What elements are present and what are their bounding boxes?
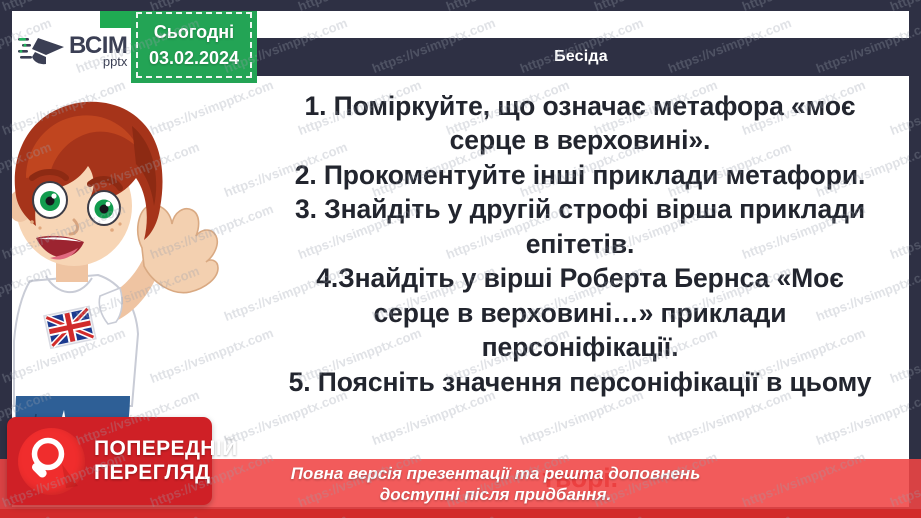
- banner-line-2: доступні після придбання.: [380, 485, 611, 504]
- preview-badge[interactable]: ПОПЕРЕДНІЙ ПЕРЕГЛЯД: [7, 417, 212, 505]
- body-line: епітетів.: [244, 227, 909, 261]
- presentation-slide: творі.: [0, 0, 921, 518]
- today-date-badge: Сьогодні 03.02.2024: [131, 11, 257, 83]
- preview-label-2: ПЕРЕГЛЯД: [94, 461, 211, 484]
- today-date: 03.02.2024: [149, 45, 239, 71]
- body-line: персоніфікації.: [244, 330, 909, 364]
- slide-title-bar: Бесіда: [253, 38, 909, 76]
- slide-body-text: 1. Поміркуйте, що означає метафора «моє …: [244, 89, 909, 399]
- preview-label-1: ПОПЕРЕДНІЙ: [94, 437, 238, 460]
- graduation-cap-icon: [18, 34, 68, 68]
- today-label: Сьогодні: [154, 19, 234, 45]
- body-line: 2. Прокоментуйте інші приклади метафори.: [244, 158, 909, 192]
- page-title: Бесіда: [554, 48, 608, 66]
- magnifier-icon: [18, 428, 85, 495]
- banner-footer-strip: [0, 509, 921, 518]
- body-line: 5. Поясніть значення персоніфікації в ць…: [244, 365, 909, 399]
- body-line: 1. Поміркуйте, що означає метафора «моє: [244, 89, 909, 123]
- body-line: 4.Знайдіть у вірші Роберта Бернса «Моє: [244, 261, 909, 295]
- banner-line-1: Повна версія презентації та решта доповн…: [291, 464, 701, 483]
- body-line: 3. Знайдіть у другій строфі вірша прикла…: [244, 192, 909, 226]
- body-line: серце в верховині…» приклади: [244, 296, 909, 330]
- body-line: серце в верховині».: [244, 123, 909, 157]
